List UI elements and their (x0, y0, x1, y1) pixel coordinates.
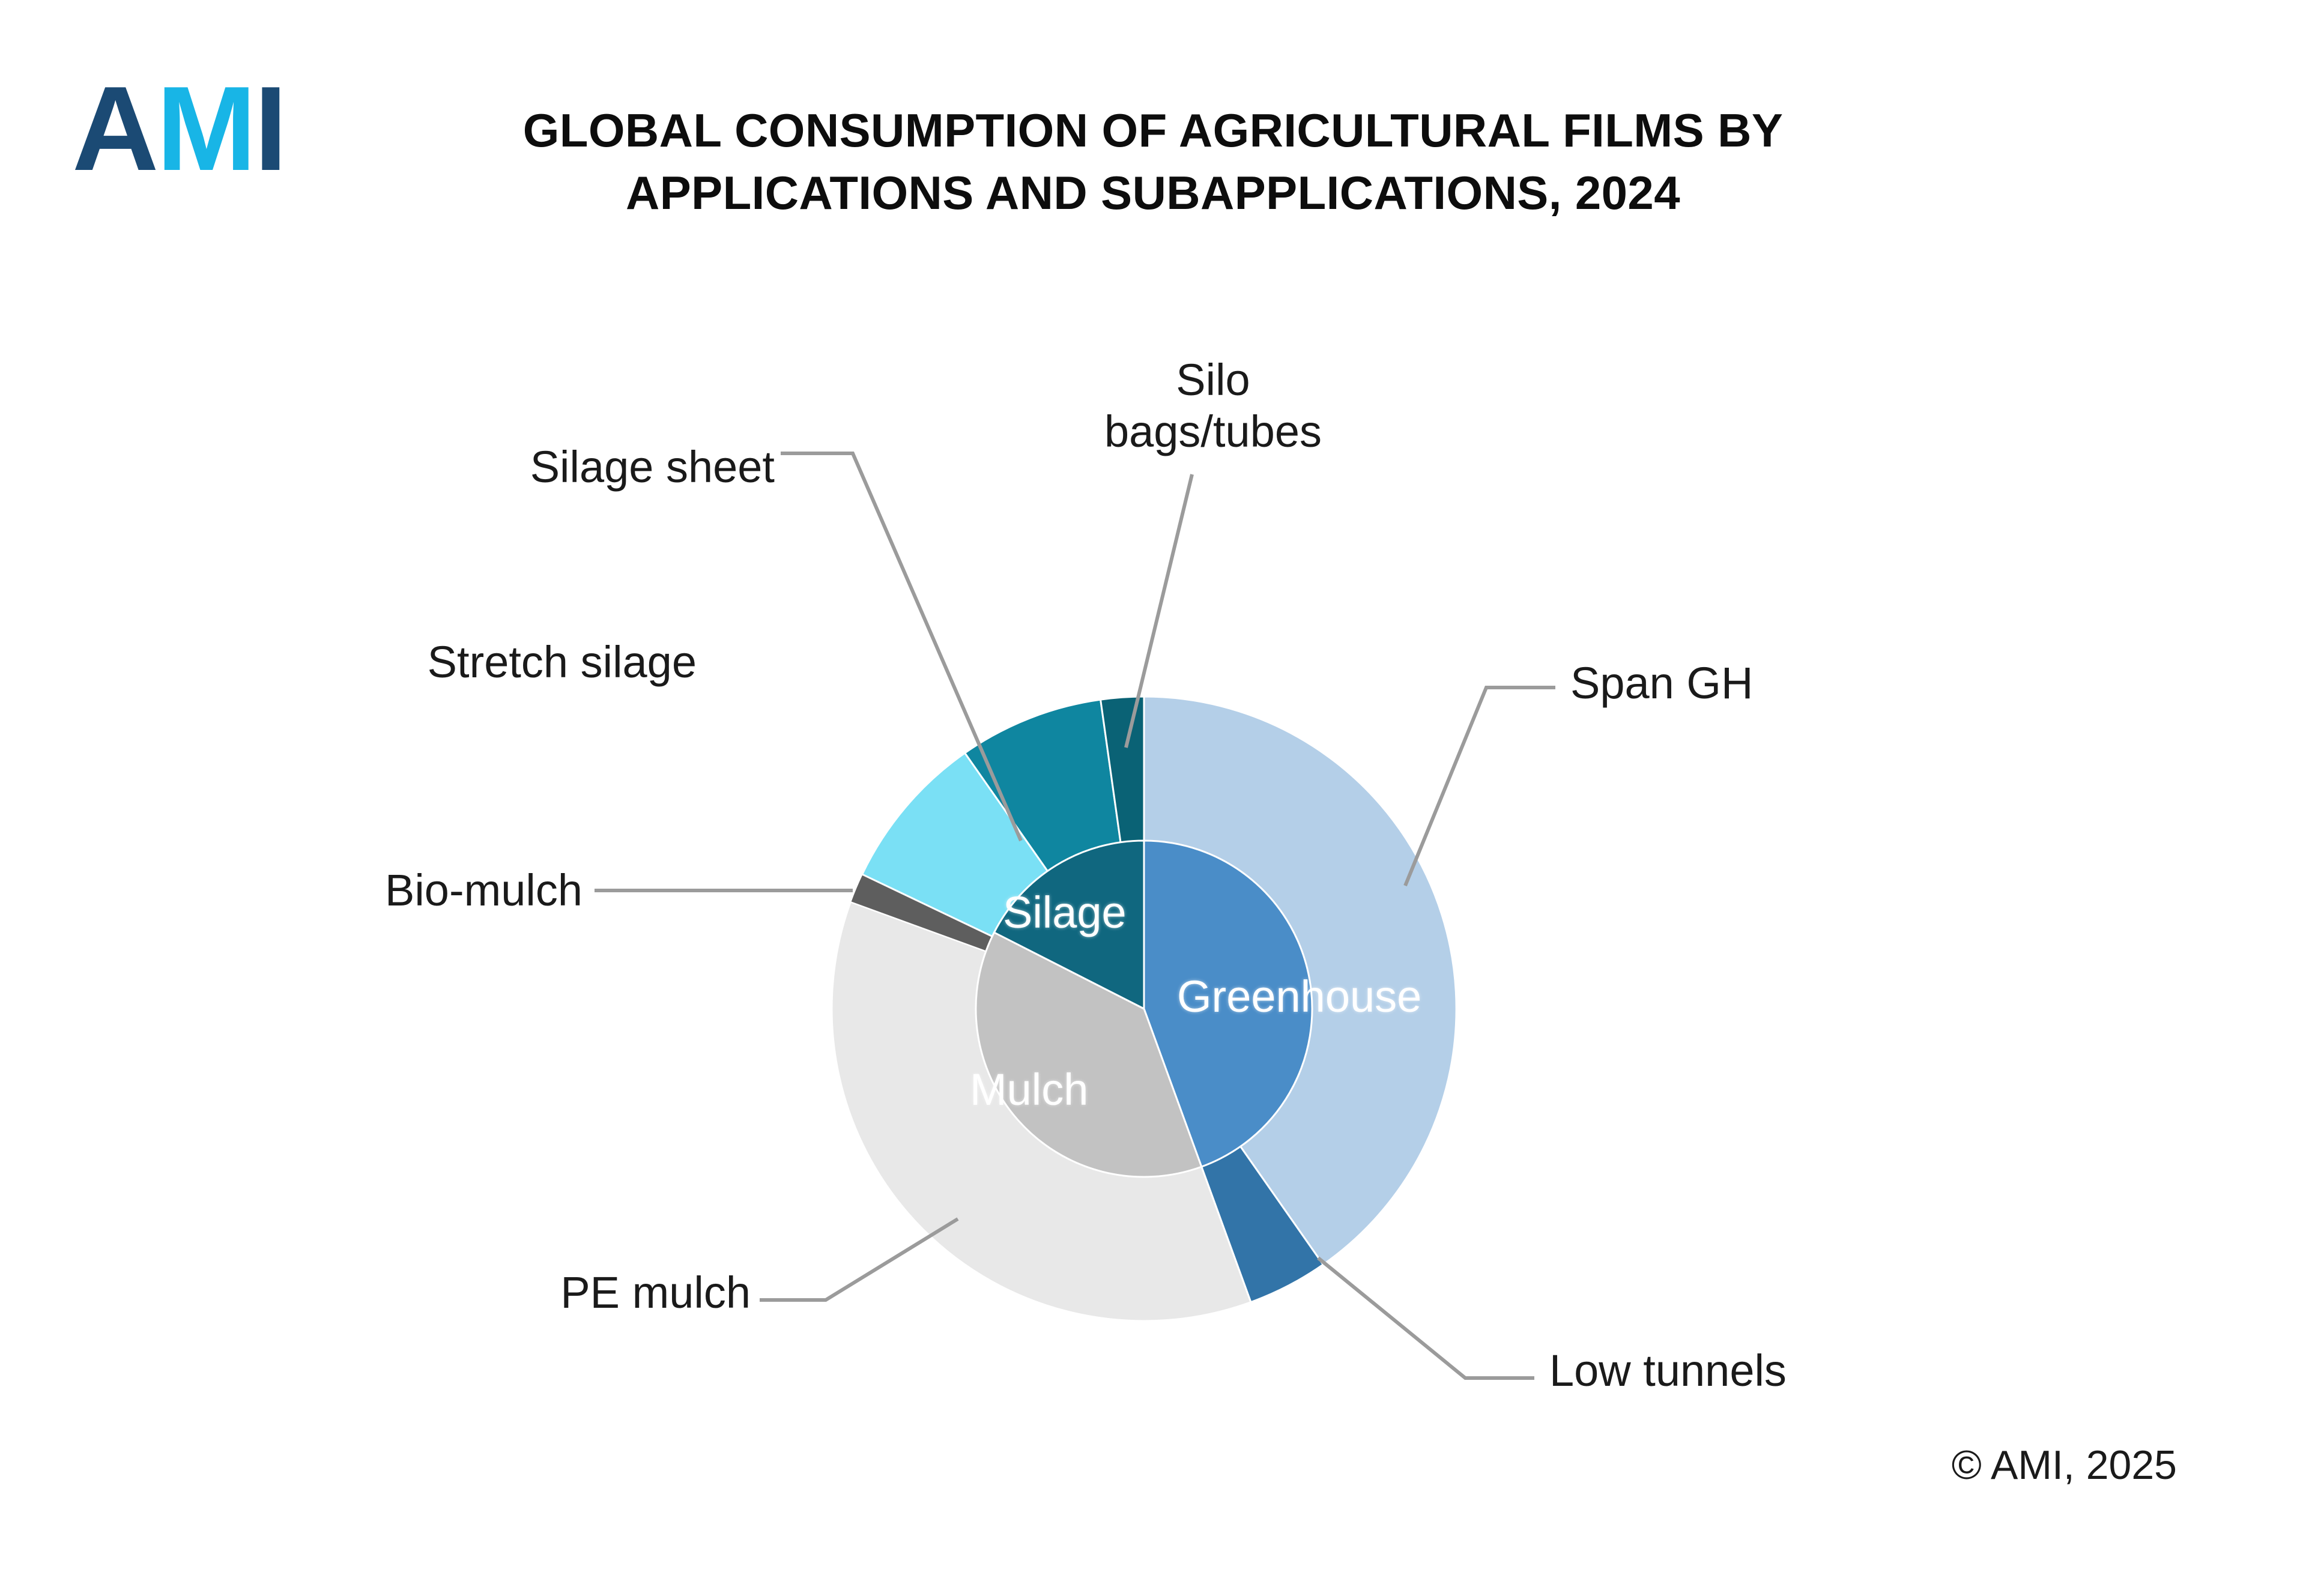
label-inner-greenhouse: Greenhouse (1177, 973, 1421, 1021)
label-pe-mulch: PE mulch (516, 1267, 751, 1319)
label-span-gh: Span GH (1570, 657, 1859, 709)
label-bio-mulch: Bio-mulch (324, 865, 583, 916)
chart-svg (0, 0, 2306, 1596)
label-inner-mulch: Mulch (970, 1066, 1088, 1114)
label-silo-bags-tubes: Silo bags/tubes (1057, 354, 1369, 458)
label-stretch-silage: Stretch silage (360, 636, 697, 688)
copyright-notice: © AMI, 2025 (1952, 1441, 2177, 1489)
chart-page: AMI GLOBAL CONSUMPTION OF AGRICULTURAL F… (0, 0, 2306, 1596)
leader-span-gh (1405, 688, 1555, 886)
sunburst-chart: Silage sheet Silo bags/tubes Stretch sil… (0, 0, 2306, 1596)
label-low-tunnels: Low tunnels (1549, 1345, 1886, 1397)
label-inner-silage: Silage (1003, 889, 1127, 937)
label-silage-sheet: Silage sheet (462, 441, 775, 493)
leader-low-tunnels (1318, 1258, 1534, 1378)
